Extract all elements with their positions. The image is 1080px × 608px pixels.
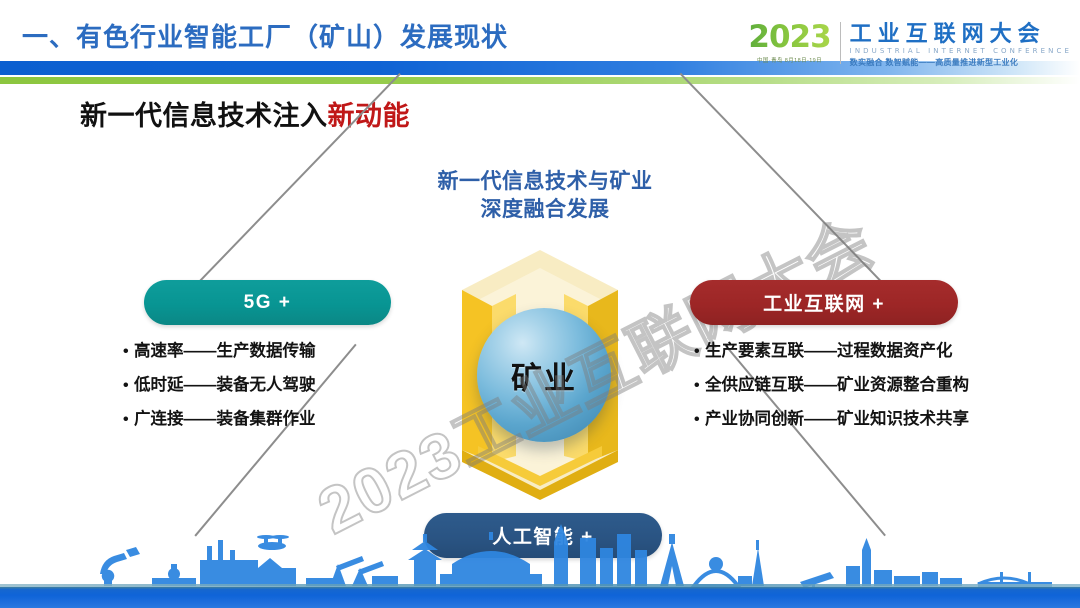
hex-box-graphic: 矿业 [432, 250, 648, 500]
connector-line-top-right [680, 73, 886, 286]
center-caption-line-2: 深度融合发展 [395, 196, 695, 224]
section-heading-main: 新一代信息技术注入 [80, 101, 328, 131]
page-title: 一、有色行业智能工厂（矿山）发展现状 [22, 17, 508, 54]
list-item-label: 全供应链互联——矿业资源整合重构 [705, 377, 969, 394]
conference-logo: 2023 中国·青岛 8月18日-19日 工业互联网大会 INDUSTRIAL … [748, 22, 1072, 68]
bullet-dot-icon: • [123, 412, 134, 428]
logo-slogan: 数实融合 数智赋能——高质量推进新型工业化 [850, 57, 1072, 68]
list-item: • 全供应链互联——矿业资源整合重构 [694, 377, 969, 394]
header-rule-green [0, 77, 1080, 84]
logo-name-cn: 工业互联网大会 [850, 22, 1072, 45]
city-skyline-graphic [0, 520, 1080, 588]
list-item-label: 产业协同创新——矿业知识技术共享 [705, 411, 969, 428]
slide-root: 一、有色行业智能工厂（矿山）发展现状 2023 中国·青岛 8月18日-19日 … [0, 0, 1080, 608]
logo-year: 2023 [748, 22, 830, 53]
list-item: • 低时延——装备无人驾驶 [123, 377, 316, 394]
bullet-list-left: • 高速率——生产数据传输 • 低时延——装备无人驾驶 • 广连接——装备集群作… [123, 343, 316, 445]
logo-year-block: 2023 中国·青岛 8月18日-19日 [748, 22, 840, 64]
list-item: • 广连接——装备集群作业 [123, 411, 316, 428]
sea-band [0, 587, 1080, 608]
logo-name-block: 工业互联网大会 INDUSTRIAL INTERNET CONFERENCE 数… [850, 22, 1072, 68]
logo-place-date: 中国·青岛 8月18日-19日 [757, 56, 822, 64]
bullet-list-right: • 生产要素互联——过程数据资产化 • 全供应链互联——矿业资源整合重构 • 产… [694, 343, 969, 445]
list-item-label: 低时延——装备无人驾驶 [134, 377, 316, 394]
center-caption-line-1: 新一代信息技术与矿业 [395, 168, 695, 196]
core-sphere: 矿业 [477, 308, 611, 442]
list-item: • 产业协同创新——矿业知识技术共享 [694, 411, 969, 428]
diagram: 新一代信息技术与矿业 深度融合发展 矿业 [0, 140, 1080, 570]
bullet-dot-icon: • [694, 344, 705, 360]
bullet-dot-icon: • [123, 344, 134, 360]
bullet-dot-icon: • [694, 378, 705, 394]
pill-5g[interactable]: 5G + [144, 280, 391, 325]
list-item-label: 广连接——装备集群作业 [134, 411, 316, 428]
pill-5g-label: 5G + [244, 292, 292, 314]
pill-industrial-internet-label: 工业互联网 + [763, 289, 885, 316]
bullet-dot-icon: • [123, 378, 134, 394]
bullet-dot-icon: • [694, 412, 705, 428]
logo-name-en: INDUSTRIAL INTERNET CONFERENCE [850, 47, 1072, 55]
list-item-label: 生产要素互联——过程数据资产化 [705, 343, 953, 360]
pill-industrial-internet[interactable]: 工业互联网 + [690, 280, 958, 325]
center-caption: 新一代信息技术与矿业 深度融合发展 [395, 168, 695, 223]
list-item-label: 高速率——生产数据传输 [134, 343, 316, 360]
core-sphere-label: 矿业 [511, 353, 577, 398]
list-item: • 生产要素互联——过程数据资产化 [694, 343, 969, 360]
list-item: • 高速率——生产数据传输 [123, 343, 316, 360]
